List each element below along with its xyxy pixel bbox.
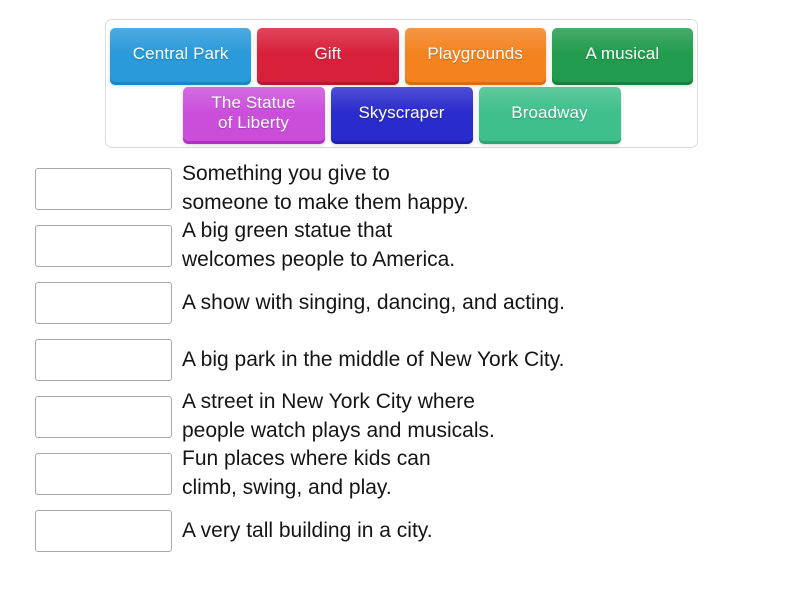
answer-row: Something you give to someone to make th… [35, 168, 775, 210]
word-bank-row-2: The Statue of LibertySkyscraperBroadway [106, 87, 697, 141]
word-tile[interactable]: Playgrounds [405, 28, 546, 82]
answer-row: Fun places where kids can climb, swing, … [35, 453, 775, 495]
answer-drop-box[interactable] [35, 453, 172, 495]
answer-row: A street in New York City where people w… [35, 396, 775, 438]
answer-drop-box[interactable] [35, 282, 172, 324]
word-tile[interactable]: The Statue of Liberty [183, 87, 325, 141]
definition-text: A big green statue that welcomes people … [182, 217, 775, 275]
word-tile[interactable]: A musical [552, 28, 693, 82]
answer-row: A big green statue that welcomes people … [35, 225, 775, 267]
answer-row: A big park in the middle of New York Cit… [35, 339, 775, 381]
word-tile[interactable]: Gift [257, 28, 398, 82]
word-tile[interactable]: Central Park [110, 28, 251, 82]
answer-drop-box[interactable] [35, 510, 172, 552]
word-tile[interactable]: Skyscraper [331, 87, 473, 141]
answer-row: A show with singing, dancing, and acting… [35, 282, 775, 324]
definition-text: A very tall building in a city. [182, 517, 775, 546]
definition-text: A show with singing, dancing, and acting… [182, 289, 775, 318]
answer-row: A very tall building in a city. [35, 510, 775, 552]
answer-drop-box[interactable] [35, 225, 172, 267]
definition-text: Fun places where kids can climb, swing, … [182, 445, 775, 503]
definition-text: Something you give to someone to make th… [182, 160, 775, 218]
answer-drop-box[interactable] [35, 339, 172, 381]
answer-list: Something you give to someone to make th… [35, 168, 775, 567]
word-bank-panel: Central ParkGiftPlaygroundsA musical The… [105, 19, 698, 148]
definition-text: A street in New York City where people w… [182, 388, 775, 446]
word-tile[interactable]: Broadway [479, 87, 621, 141]
definition-text: A big park in the middle of New York Cit… [182, 346, 775, 375]
answer-drop-box[interactable] [35, 168, 172, 210]
answer-drop-box[interactable] [35, 396, 172, 438]
word-bank-row-1: Central ParkGiftPlaygroundsA musical [106, 28, 697, 82]
